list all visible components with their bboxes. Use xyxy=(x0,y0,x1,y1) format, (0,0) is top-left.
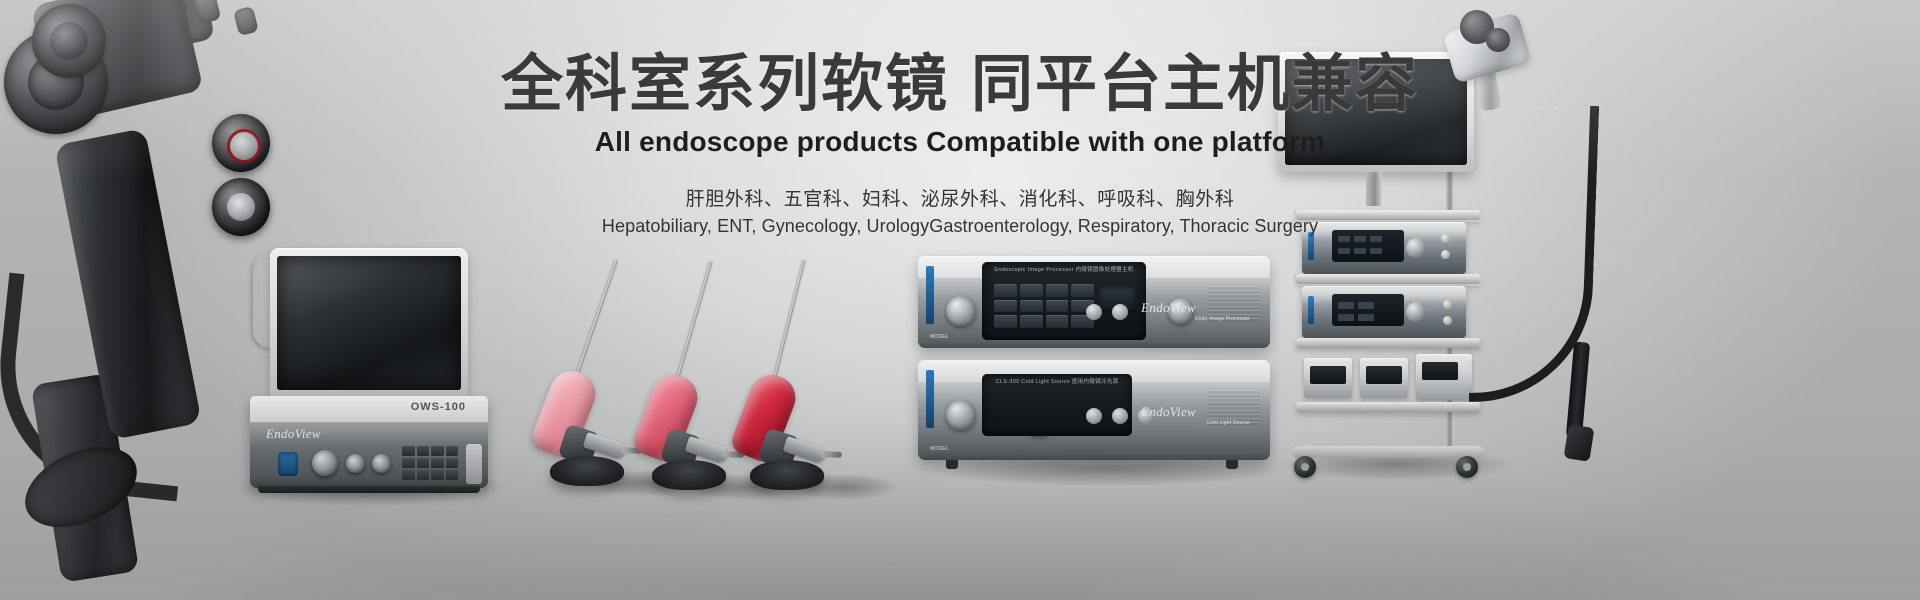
box-display xyxy=(1310,366,1346,384)
unit-brand-label: EndoView xyxy=(1141,404,1196,420)
light-source-unit: CLS-300 Cold Light Source 医用内窥镜冷光源 EndoV… xyxy=(918,360,1270,460)
unit-sub-label: Endo Image Processor xyxy=(1195,316,1250,322)
scope-arm-cable-lower xyxy=(1566,341,1590,438)
specialties-english: Hepatobiliary, ENT, Gynecology, UrologyG… xyxy=(0,216,1920,237)
ows-model-label: OWS-100 xyxy=(411,401,466,413)
control-panel: Endoscopic Image Processor 内窥镜图像处理器主机 xyxy=(982,262,1146,340)
headline-chinese-part2: 同平台主机兼容 xyxy=(971,50,1419,119)
standby-button-icon xyxy=(1112,408,1128,424)
headline-english: All endoscope products Compatible with o… xyxy=(0,126,1920,158)
specialties-chinese: 肝胆外科、五官科、妇科、泌尿外科、消化科、呼吸科、胸外科 xyxy=(0,184,1920,211)
side-tab xyxy=(466,444,482,484)
unit-sub-label: Cold Light Source xyxy=(1207,420,1250,426)
endoscopy-product-banner: OWS-100 EndoView xyxy=(0,0,1920,600)
unit-brand-label: EndoView xyxy=(1141,300,1196,316)
status-strip xyxy=(1308,296,1314,324)
stacked-processor-units: Endoscopic Image Processor 内窥镜图像处理器主机 En… xyxy=(918,256,1274,470)
unit-foot xyxy=(1226,460,1238,469)
connector-port-icon xyxy=(946,400,976,430)
ows-base-unit: OWS-100 EndoView xyxy=(250,396,488,488)
ows-feet xyxy=(258,486,480,493)
ows-processor-product: OWS-100 EndoView xyxy=(228,248,498,490)
scope-stand-base xyxy=(750,460,824,490)
banner-text-block: 全科室系列软镜同平台主机兼容 All endoscope products Co… xyxy=(0,52,1920,237)
control-panel xyxy=(1332,294,1404,326)
cart-accessory-box xyxy=(1304,358,1352,398)
box-display xyxy=(1366,366,1402,384)
ows-display-frame xyxy=(270,248,468,398)
ows-brand-label: EndoView xyxy=(266,426,321,442)
image-processor-unit: Endoscopic Image Processor 内窥镜图像处理器主机 En… xyxy=(918,256,1270,348)
rotary-knob-icon xyxy=(346,454,365,473)
rotary-knob-icon xyxy=(1486,28,1510,52)
rotary-knob-icon xyxy=(312,450,338,476)
unit-tiny-label: MODEL xyxy=(930,446,949,452)
status-strip xyxy=(926,370,934,428)
unit-foot xyxy=(946,460,958,469)
rigid-scope-red xyxy=(706,256,866,496)
headline-chinese-part1: 全科室系列软镜 xyxy=(501,50,949,119)
keypad-icon xyxy=(994,284,1094,328)
endoscope-button-icon xyxy=(233,6,259,36)
scope-arm-tip xyxy=(1564,424,1595,462)
function-button-icon xyxy=(1112,304,1128,320)
ows-display-screen xyxy=(277,256,461,390)
keypad-icon xyxy=(402,446,458,480)
status-strip xyxy=(926,266,934,324)
connector-port-icon xyxy=(278,452,298,476)
unit-tiny-label: MODEL xyxy=(930,334,949,340)
panel-caption: Endoscopic Image Processor 内窥镜图像处理器主机 xyxy=(982,266,1146,274)
power-button-icon xyxy=(1086,304,1102,320)
control-panel: CLS-300 Cold Light Source 医用内窥镜冷光源 xyxy=(982,374,1132,436)
panel-caption: CLS-300 Cold Light Source 医用内窥镜冷光源 xyxy=(982,378,1132,386)
rotary-knob-icon xyxy=(372,454,391,473)
headline-chinese: 全科室系列软镜同平台主机兼容 xyxy=(0,52,1920,118)
cart-accessory-box xyxy=(1360,358,1408,398)
caster-wheel-icon xyxy=(1294,456,1316,478)
power-button-icon xyxy=(1086,408,1102,424)
rotary-knob-icon xyxy=(946,296,976,326)
